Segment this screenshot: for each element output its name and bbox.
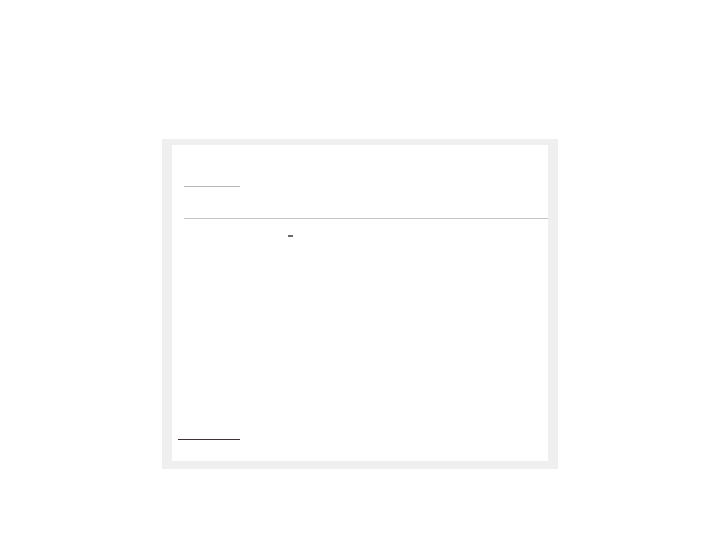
article-abstract bbox=[260, 202, 548, 219]
journal-header-band bbox=[172, 151, 548, 183]
citation-rest bbox=[293, 229, 296, 240]
left-column-rule bbox=[184, 186, 240, 187]
citation-stamp bbox=[288, 229, 296, 240]
scanned-page-card bbox=[162, 139, 558, 469]
footnote-rule bbox=[178, 439, 240, 440]
left-column-fragment-continued bbox=[184, 207, 244, 211]
scanned-page-sheet bbox=[172, 145, 548, 461]
figure-area bbox=[178, 255, 542, 451]
header-underline bbox=[184, 218, 548, 219]
